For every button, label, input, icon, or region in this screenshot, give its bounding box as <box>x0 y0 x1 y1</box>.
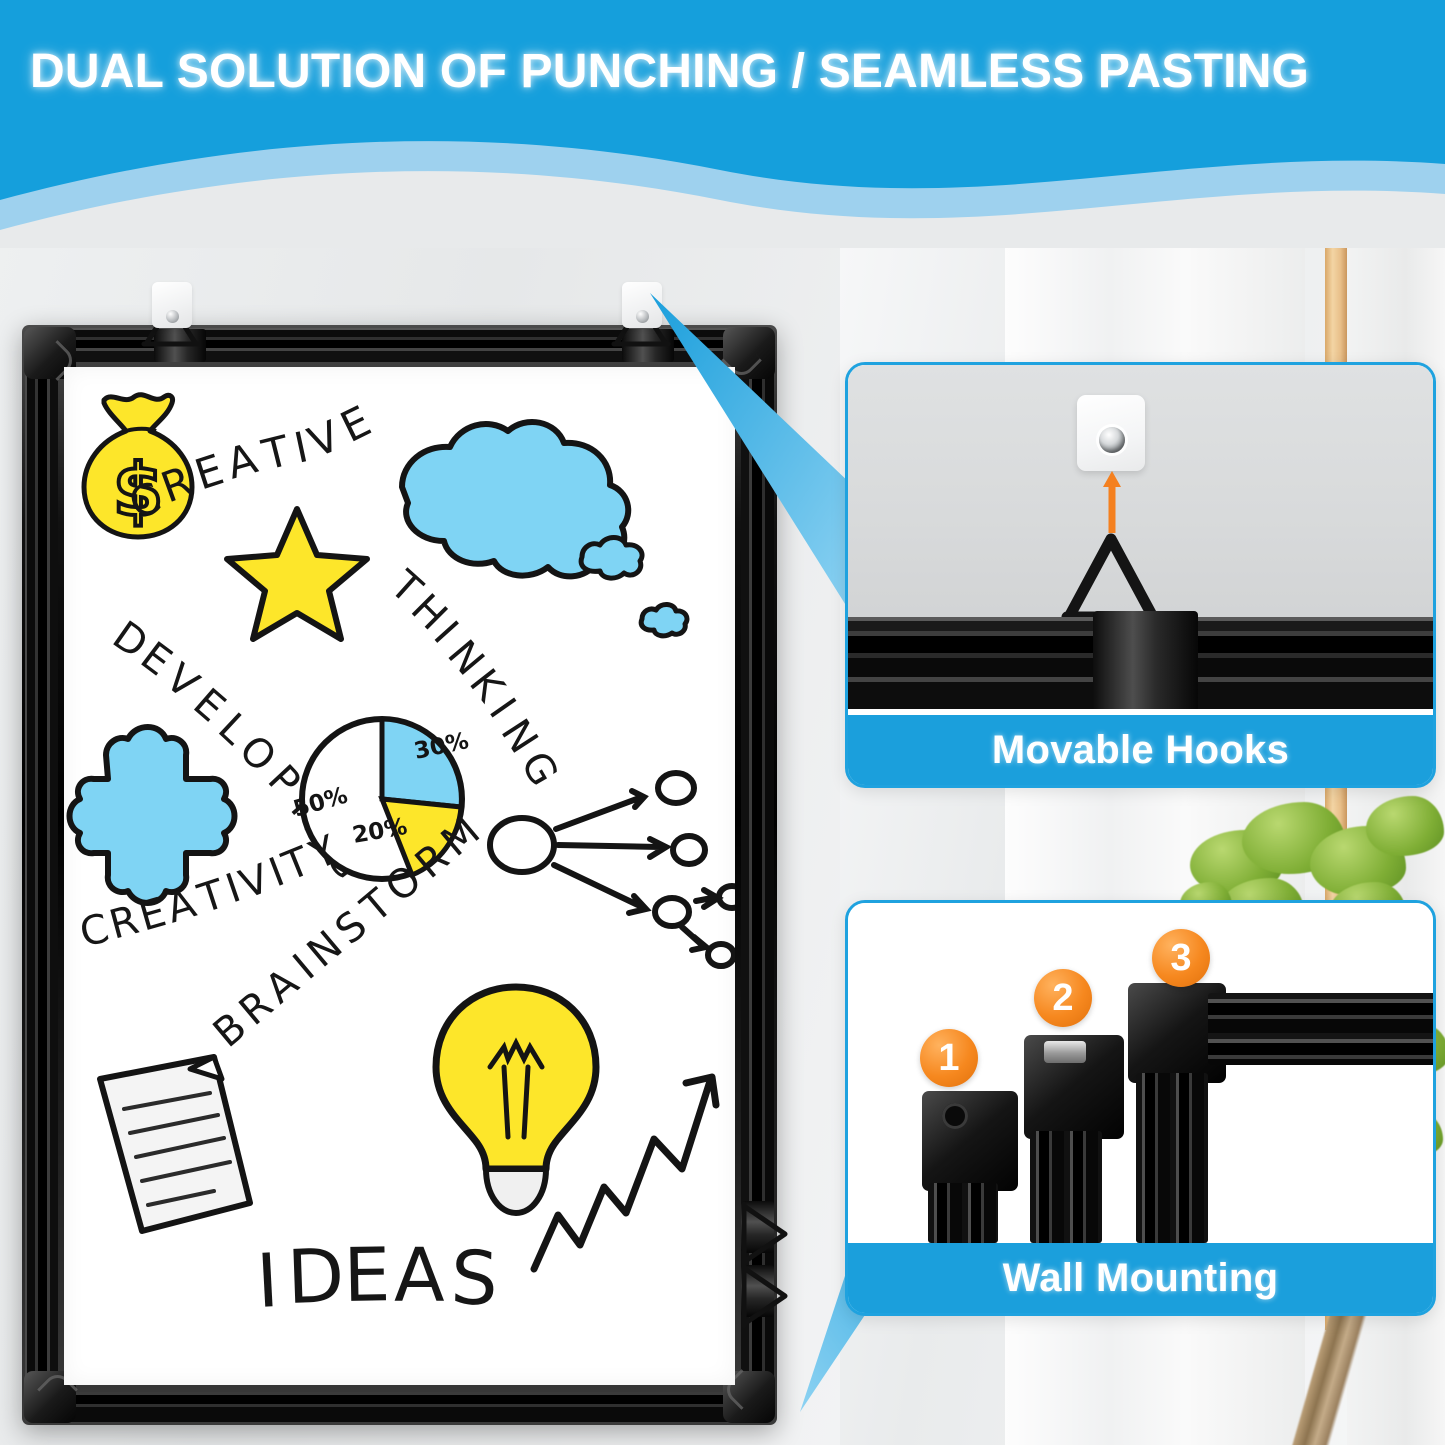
hook-knob-icon <box>166 310 179 323</box>
frame-rail-vertical-2 <box>1030 1131 1102 1243</box>
panel-label-text: Movable Hooks <box>992 728 1289 773</box>
document-icon <box>100 1057 250 1231</box>
whiteboard-sketch: $ C R E A T I V E <box>64 367 735 1385</box>
step-badge-1: 1 <box>920 1029 978 1087</box>
svg-text:A: A <box>394 1233 445 1319</box>
panel-label-wall-mounting: Wall Mounting <box>848 1243 1433 1313</box>
step-badge-3-label: 3 <box>1170 937 1191 980</box>
product-infographic: DUAL SOLUTION OF PUNCHING / SEAMLESS PAS… <box>0 0 1445 1445</box>
wall-hook-left <box>152 282 192 328</box>
step-badge-2: 2 <box>1034 969 1092 1027</box>
svg-text:E: E <box>343 1232 391 1319</box>
mounting-screw-icon <box>1044 1041 1086 1063</box>
up-arrow-icon <box>1103 471 1121 533</box>
joint-hole-icon <box>942 1103 968 1129</box>
wall-mounting-photo: 1 2 3 <box>848 903 1433 1243</box>
frame-rail-bottom <box>52 1392 747 1422</box>
header-banner: DUAL SOLUTION OF PUNCHING / SEAMLESS PAS… <box>0 0 1445 112</box>
frame-joint-1 <box>922 1091 1018 1191</box>
mindmap-icon <box>490 773 735 966</box>
step-badge-1-label: 1 <box>938 1037 959 1080</box>
panel-wall-mounting[interactable]: 1 2 3 Wall Mounting <box>845 900 1436 1316</box>
svg-text:D: D <box>286 1233 346 1321</box>
lightbulb-icon <box>436 987 596 1213</box>
svg-text:T: T <box>257 426 295 480</box>
svg-text:E: E <box>189 445 229 500</box>
star-icon <box>227 509 367 639</box>
svg-text:A: A <box>221 434 262 489</box>
hooks-photo <box>848 365 1433 715</box>
step-badge-3: 3 <box>1152 929 1210 987</box>
header-wave <box>0 108 1445 248</box>
panel-label-text: Wall Mounting <box>1003 1256 1279 1301</box>
svg-text:I: I <box>254 1238 280 1325</box>
frame-rail-vertical-1 <box>928 1183 998 1243</box>
frame-rail-vertical-3 <box>1136 1073 1208 1243</box>
svg-text:S: S <box>449 1235 499 1323</box>
whiteboard-surface[interactable]: $ C R E A T I V E <box>64 367 735 1385</box>
page-title: DUAL SOLUTION OF PUNCHING / SEAMLESS PAS… <box>30 44 1309 99</box>
movable-clip[interactable] <box>1093 611 1198 715</box>
hook-keyhole-icon <box>1099 427 1125 453</box>
frame-rail-left <box>25 355 58 1395</box>
sketch-word-ideas: I D E A S <box>254 1232 499 1325</box>
step-badge-2-label: 2 <box>1052 977 1073 1020</box>
panel-label-movable-hooks: Movable Hooks <box>848 715 1433 785</box>
panel-movable-hooks[interactable]: Movable Hooks <box>845 362 1436 788</box>
frame-rail-horizontal <box>1208 993 1436 1065</box>
small-cloud-icon <box>581 538 642 579</box>
